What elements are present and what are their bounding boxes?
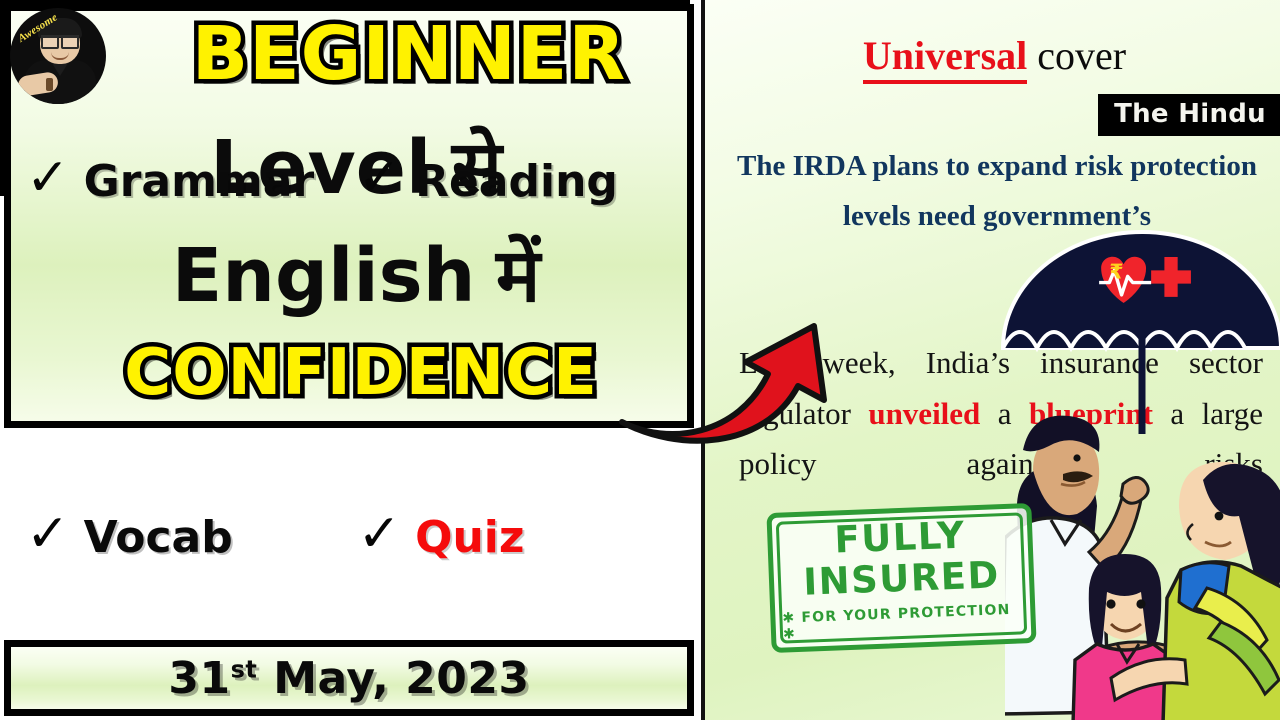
stamp-line-two: INSURED: [803, 556, 1001, 601]
list-item: ✓ Vocab: [26, 512, 358, 564]
svg-text:₹: ₹: [1109, 259, 1123, 283]
source-badge: The Hindu: [1098, 94, 1280, 136]
list-item: ✓ Grammar: [26, 156, 358, 208]
body-emphasis-one: unveiled: [868, 396, 980, 431]
date-rest: May, 2023: [257, 653, 529, 704]
article-subhead: The IRDA plans to expand risk protection…: [727, 142, 1267, 242]
checklist: ✓ Grammar ✓ Reading ✓ Vocab ✓ Quiz: [0, 0, 701, 720]
date-day: 31: [168, 653, 230, 704]
date-box: 31st May, 2023: [4, 640, 694, 716]
status-badge: FULLY INSURED ✱ FOR YOUR PROTECTION ✱: [766, 503, 1036, 653]
check-icon: ✓: [358, 152, 402, 204]
check-icon: ✓: [358, 508, 402, 560]
list-item-label: Reading: [415, 160, 618, 204]
curved-arrow-icon: [618, 318, 848, 448]
glasses-icon: [41, 35, 79, 44]
list-item-label: Vocab: [84, 516, 233, 560]
page-title: Universal cover: [705, 34, 1280, 78]
headline-rest: cover: [1037, 33, 1126, 78]
family-illustration-icon: [1005, 392, 1280, 720]
date-label: 31st May, 2023: [168, 653, 529, 704]
thumbnail-canvas: BEGINNER Level से English में CONFIDENCE: [0, 0, 1280, 720]
list-item-label: Grammar: [84, 160, 315, 204]
avatar-watch: [46, 78, 53, 91]
list-item-label: Quiz: [415, 516, 524, 560]
checklist-box: ✓ Grammar ✓ Reading ✓ Vocab ✓ Quiz: [0, 0, 690, 196]
check-icon: ✓: [26, 508, 70, 560]
avatar: Awesome: [10, 8, 106, 104]
stamp-line-one: FULLY: [834, 516, 966, 558]
stamp-inner-border: FULLY INSURED ✱ FOR YOUR PROTECTION ✱: [776, 512, 1028, 643]
left-panel: BEGINNER Level से English में CONFIDENCE: [0, 0, 701, 720]
list-item: ✓ Quiz: [358, 512, 690, 564]
headline-highlight: Universal: [863, 33, 1027, 84]
date-content: 31st May, 2023: [11, 647, 687, 709]
check-icon: ✓: [26, 152, 70, 204]
list-item: ✓ Reading: [358, 156, 690, 208]
date-ordinal: st: [231, 655, 258, 683]
